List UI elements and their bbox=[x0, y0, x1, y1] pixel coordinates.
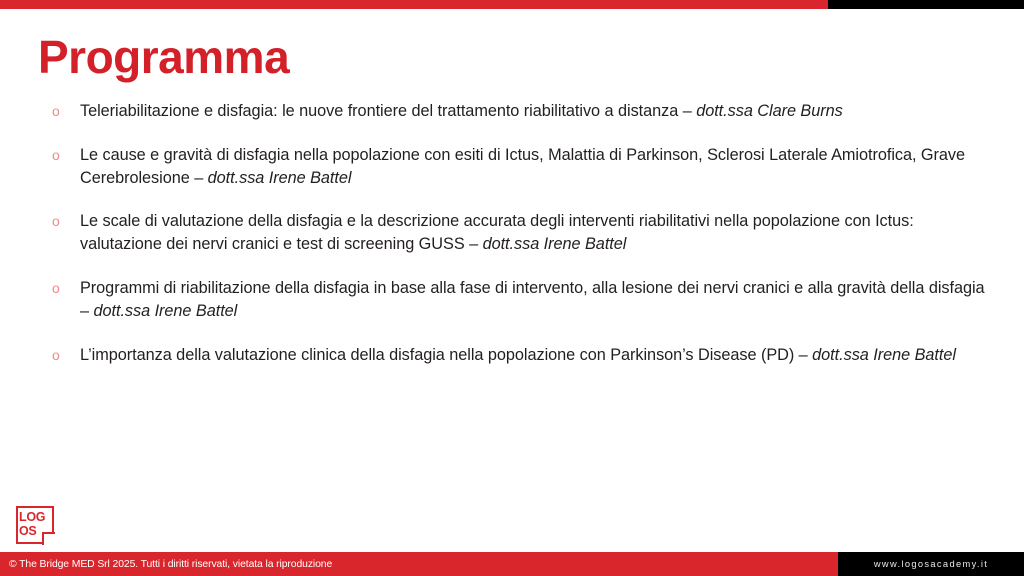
footer-right-band: www.logosacademy.it bbox=[838, 552, 1024, 576]
bullet-icon: o bbox=[52, 145, 68, 165]
list-item-speaker: dott.ssa Irene Battel bbox=[483, 235, 627, 253]
list-item: o L’importanza della valutazione clinica… bbox=[50, 344, 990, 367]
list-item-topic: L’importanza della valutazione clinica d… bbox=[80, 346, 812, 364]
top-accent-bar-red-segment bbox=[0, 0, 828, 9]
list-item-text: Teleriabilitazione e disfagia: le nuove … bbox=[80, 100, 990, 123]
list-item-speaker: dott.ssa Irene Battel bbox=[93, 302, 237, 320]
logo-notch bbox=[42, 532, 55, 545]
logos-logo-icon: LOG OS bbox=[16, 506, 54, 544]
list-item-text: Programmi di riabilitazione della disfag… bbox=[80, 277, 990, 323]
bullet-icon: o bbox=[52, 211, 68, 231]
list-item-speaker: dott.ssa Irene Battel bbox=[812, 346, 956, 364]
list-item-text: Le cause e gravità di disfagia nella pop… bbox=[80, 144, 990, 190]
list-item: o Le cause e gravità di disfagia nella p… bbox=[50, 144, 990, 190]
footer: © The Bridge MED Srl 2025. Tutti i dirit… bbox=[0, 552, 1024, 576]
list-item-topic: Teleriabilitazione e disfagia: le nuove … bbox=[80, 102, 696, 120]
list-item-speaker: dott.ssa Clare Burns bbox=[696, 102, 843, 120]
top-accent-bar-black-segment bbox=[828, 0, 1024, 9]
footer-copyright: © The Bridge MED Srl 2025. Tutti i dirit… bbox=[0, 559, 332, 570]
list-item-text: Le scale di valutazione della disfagia e… bbox=[80, 210, 990, 256]
bullet-icon: o bbox=[52, 278, 68, 298]
bullet-icon: o bbox=[52, 101, 68, 121]
program-list: o Teleriabilitazione e disfagia: le nuov… bbox=[50, 100, 990, 367]
list-item: o Programmi di riabilitazione della disf… bbox=[50, 277, 990, 323]
footer-left-band: © The Bridge MED Srl 2025. Tutti i dirit… bbox=[0, 552, 838, 576]
list-item: o Teleriabilitazione e disfagia: le nuov… bbox=[50, 100, 990, 123]
slide: Programma o Teleriabilitazione e disfagi… bbox=[0, 0, 1024, 576]
list-item-speaker: dott.ssa Irene Battel bbox=[208, 169, 352, 187]
bullet-icon: o bbox=[52, 345, 68, 365]
page-title: Programma bbox=[38, 34, 289, 80]
footer-website-url[interactable]: www.logosacademy.it bbox=[874, 559, 988, 569]
top-accent-bar bbox=[0, 0, 1024, 9]
logo-text-line-1: LOG bbox=[19, 510, 53, 524]
list-item-text: L’importanza della valutazione clinica d… bbox=[80, 344, 990, 367]
list-item: o Le scale di valutazione della disfagia… bbox=[50, 210, 990, 256]
